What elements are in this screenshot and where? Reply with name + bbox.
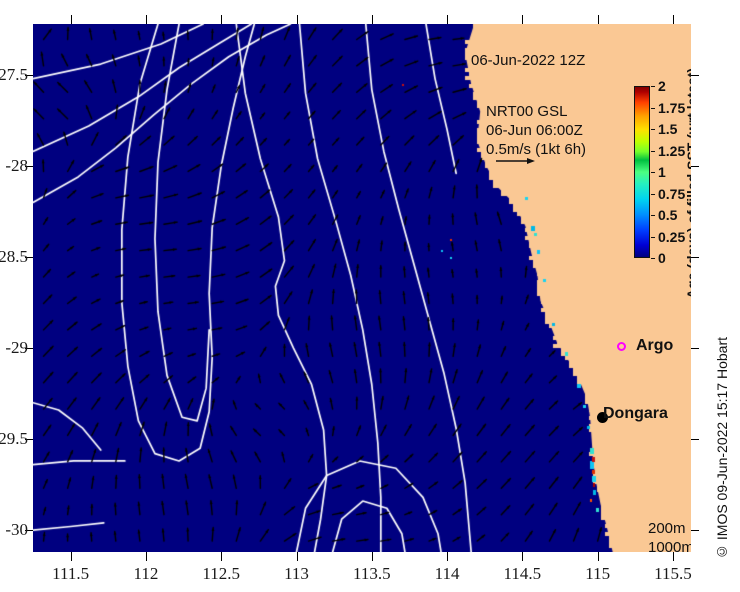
dongara-city-label: Dongara (603, 405, 668, 423)
colorbar-tick (651, 237, 655, 238)
x-axis-tick (447, 552, 448, 561)
colorbar-tick (651, 258, 655, 259)
y-axis-tick (691, 166, 699, 167)
depth-200m-row: 200m (648, 519, 691, 538)
credit-label: © IMOS 09-Jun-2022 15:17 Hobart (714, 330, 734, 560)
y-axis-label: -27.5 (0, 65, 28, 85)
x-axis-tick (71, 15, 72, 24)
x-axis-tick (71, 552, 72, 561)
date-stamp-label: 06-Jun-2022 12Z (471, 52, 585, 69)
colorbar-title: Age (days) of filled SST (wrt latest) (681, 48, 691, 318)
colorbar-tick (651, 215, 655, 216)
x-axis-label: 115.5 (654, 564, 692, 584)
x-axis-tick (447, 15, 448, 24)
vector-scale-arrow-icon (495, 155, 535, 167)
colorbar-tick (651, 172, 655, 173)
colorbar-tick-label: 1.5 (658, 121, 677, 137)
x-axis-tick (673, 15, 674, 24)
y-axis-label: -28 (0, 156, 28, 176)
depth-200m-label: 200m (648, 520, 686, 537)
x-axis-tick (522, 552, 523, 561)
x-axis-tick (146, 552, 147, 561)
argo-legend-label: Argo (636, 337, 673, 355)
x-axis-label: 112 (133, 564, 158, 584)
colorbar-tick-label: 1 (658, 164, 666, 180)
x-axis-label: 113.5 (353, 564, 391, 584)
colorbar: 21.751.51.2510.750.50.250 (634, 86, 650, 258)
map-plot-area[interactable]: 06-Jun-2022 12Z NRT00 GSL 06-Jun 06:00Z … (33, 24, 691, 552)
x-axis-tick (673, 552, 674, 561)
colorbar-tick (651, 86, 655, 87)
x-axis-tick (372, 15, 373, 24)
y-axis-tick (691, 348, 699, 349)
x-axis-tick (598, 15, 599, 24)
colorbar-gradient (634, 86, 650, 258)
x-axis-tick (297, 552, 298, 561)
y-axis-label: -30 (0, 520, 28, 540)
y-axis-tick (691, 75, 699, 76)
gsl-time-label: 06-Jun 06:00Z (486, 121, 586, 140)
sst-age-map-canvas (33, 24, 691, 552)
figure-canvas: 06-Jun-2022 12Z NRT00 GSL 06-Jun 06:00Z … (0, 0, 740, 592)
argo-marker-icon (617, 342, 626, 351)
x-axis-tick (221, 552, 222, 561)
gsl-info-block: NRT00 GSL 06-Jun 06:00Z 0.5m/s (1kt 6h) (486, 102, 586, 159)
y-axis-label: -29.5 (0, 429, 28, 449)
x-axis-label: 113 (284, 564, 309, 584)
gsl-source-label: NRT00 GSL (486, 102, 586, 121)
x-axis-label: 111.5 (52, 564, 89, 584)
depth-contour-legend: 200m 1000m (648, 519, 691, 552)
y-axis-tick (691, 257, 699, 258)
x-axis-tick (146, 15, 147, 24)
x-axis-label: 114 (435, 564, 460, 584)
x-axis-label: 114.5 (504, 564, 542, 584)
argo-legend: Argo (617, 337, 673, 355)
x-axis-label: 115 (585, 564, 610, 584)
depth-1000m-row: 1000m (648, 538, 691, 552)
colorbar-tick (651, 151, 655, 152)
colorbar-tick-label: 0 (658, 250, 666, 266)
x-axis-tick (372, 552, 373, 561)
depth-1000m-label: 1000m (648, 539, 691, 552)
x-axis-tick (598, 552, 599, 561)
colorbar-tick (651, 108, 655, 109)
y-axis-tick (691, 530, 699, 531)
x-axis-label: 112.5 (202, 564, 240, 584)
colorbar-tick (651, 129, 655, 130)
y-axis-tick (691, 439, 699, 440)
x-axis-tick (297, 15, 298, 24)
x-axis-tick (221, 15, 222, 24)
colorbar-tick-label: 0.5 (658, 207, 677, 223)
x-axis-tick (522, 15, 523, 24)
colorbar-tick (651, 194, 655, 195)
y-axis-label: -28.5 (0, 247, 28, 267)
y-axis-label: -29 (0, 338, 28, 358)
colorbar-tick-label: 2 (658, 78, 666, 94)
